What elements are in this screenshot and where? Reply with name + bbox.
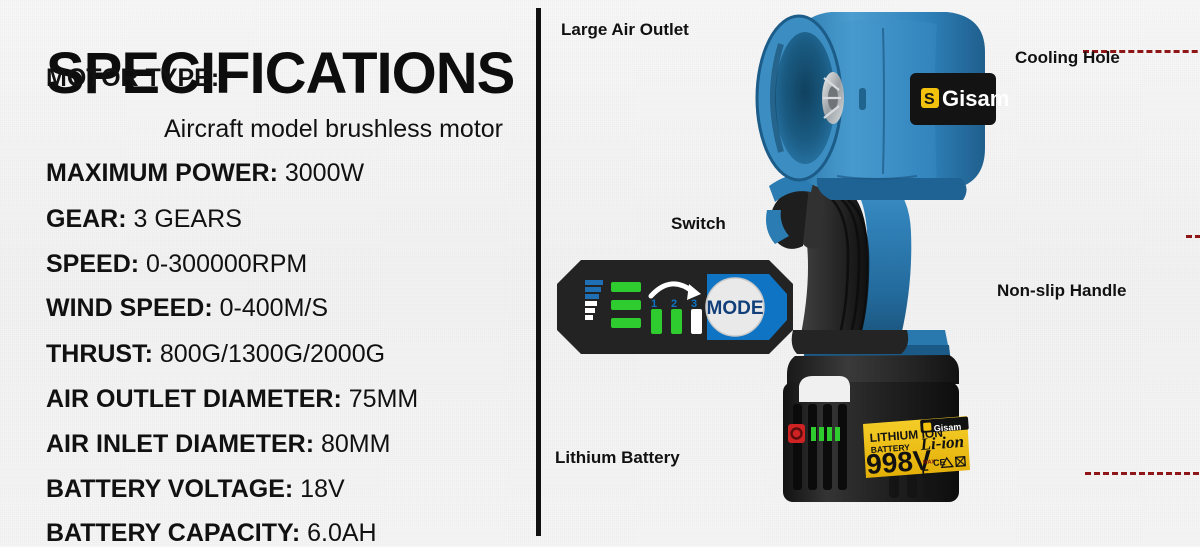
spec-key-maximum-power: MAXIMUM POWER: <box>46 159 285 187</box>
callout-label-cooling-hole: Cooling Hole <box>1015 48 1120 68</box>
spec-row-speed: SPEED: 0-300000RPM <box>46 252 307 277</box>
svg-text:1: 1 <box>651 298 657 310</box>
spec-value-thrust: 800G/1300G/2000G <box>160 340 385 368</box>
specifications-panel: SPECIFICATIONS MOTOR TYPE: Aircraft mode… <box>0 0 536 545</box>
spec-row-air-outlet-diameter: AIR OUTLET DIAMETER: 75MM <box>46 387 418 412</box>
wind-level-bars <box>611 282 641 328</box>
svg-text:3: 3 <box>691 298 697 310</box>
callout-label-lithium-battery: Lithium Battery <box>555 448 680 468</box>
spec-key-motor-type: MOTOR TYPE: <box>46 64 219 92</box>
svg-text:Li-ion: Li-ion <box>919 432 965 454</box>
spec-row-air-inlet-diameter: AIR INLET DIAMETER: 80MM <box>46 432 390 457</box>
spec-value-wind-speed: 0-400M/S <box>220 294 328 322</box>
spec-value-battery-capacity: 6.0AH <box>307 519 376 547</box>
spec-row-thrust: THRUST: 800G/1300G/2000G <box>46 342 385 367</box>
callout-label-large-air-outlet: Large Air Outlet <box>561 20 689 40</box>
mode-button-label: MODE <box>707 298 764 319</box>
spec-key-air-outlet-diameter: AIR OUTLET DIAMETER: <box>46 385 349 413</box>
battery-pack: LITHIUM ION BATTERY 998V F MAX Gisam Li-… <box>783 330 970 502</box>
spec-value-speed: 0-300000RPM <box>146 250 307 278</box>
callout-label-non-slip-handle: Non-slip Handle <box>997 281 1126 301</box>
svg-text:2: 2 <box>671 298 677 310</box>
callout-label-switch: Switch <box>671 214 726 234</box>
spec-value-battery-voltage: 18V <box>300 475 344 503</box>
spec-row-gear: GEAR: 3 GEARS <box>46 207 242 232</box>
spec-key-thrust: THRUST: <box>46 340 160 368</box>
mode-button[interactable]: MODE <box>706 278 764 336</box>
brand-badge: S Gisam <box>910 73 1009 125</box>
spec-row-wind-speed: WIND SPEED: 0-400M/S <box>46 296 328 321</box>
spec-value-gear: 3 GEARS <box>134 205 242 233</box>
spec-row-motor-type: MOTOR TYPE: <box>46 66 219 91</box>
spec-row-battery-capacity: BATTERY CAPACITY: 6.0AH <box>46 521 377 546</box>
callout-dash-lithium-battery <box>1085 472 1200 475</box>
spec-value-air-outlet-diameter: 75MM <box>349 385 418 413</box>
motor-housing: S Gisam <box>757 12 1009 200</box>
spec-value-motor-type: Aircraft model brushless motor <box>164 117 503 142</box>
spec-value-maximum-power: 3000W <box>285 159 364 187</box>
svg-text:Gisam: Gisam <box>942 86 1009 111</box>
spec-key-air-inlet-diameter: AIR INLET DIAMETER: <box>46 430 321 458</box>
spec-row-battery-voltage: BATTERY VOLTAGE: 18V <box>46 477 345 502</box>
spec-key-gear: GEAR: <box>46 205 134 233</box>
spec-key-battery-capacity: BATTERY CAPACITY: <box>46 519 307 547</box>
spec-value-air-inlet-diameter: 80MM <box>321 430 390 458</box>
mode-control-panel[interactable]: 1 2 3 MODE <box>555 256 795 357</box>
svg-text:S: S <box>924 91 935 108</box>
product-panel: LITHIUM ION BATTERY 998V F MAX Gisam Li-… <box>537 0 1200 545</box>
page-root: SPECIFICATIONS MOTOR TYPE: Aircraft mode… <box>0 0 1200 545</box>
spec-row-maximum-power: MAXIMUM POWER: 3000W <box>46 161 364 186</box>
svg-text:F: F <box>921 466 929 481</box>
spec-key-battery-voltage: BATTERY VOLTAGE: <box>46 475 300 503</box>
spec-key-speed: SPEED: <box>46 250 146 278</box>
impeller-hub <box>822 72 844 124</box>
spec-key-wind-speed: WIND SPEED: <box>46 294 220 322</box>
callout-dash-switch <box>1186 235 1200 238</box>
